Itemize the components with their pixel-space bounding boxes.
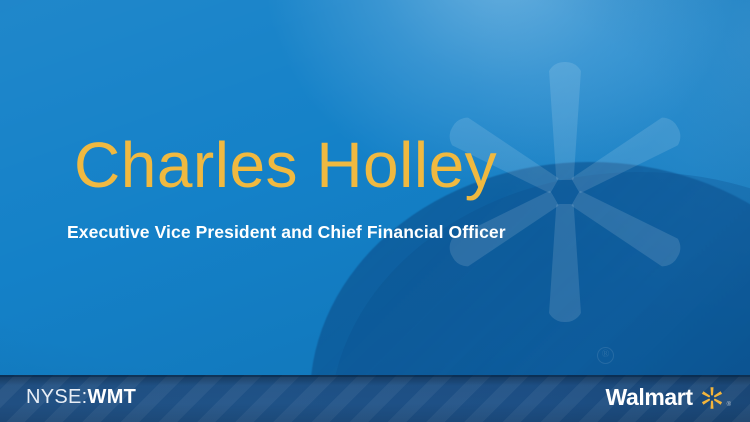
ticker-exchange-label: NYSE: [26, 386, 88, 408]
ticker-symbol-label: WMT [88, 386, 137, 408]
page-subtitle: Executive Vice President and Chief Finan… [67, 222, 506, 243]
footer-bar: NYSE:WMT Walmart [0, 375, 750, 422]
presentation-slide: ® Charles Holley Executive Vice Presiden… [0, 0, 750, 422]
footer-top-divider [0, 375, 750, 377]
stock-ticker: NYSE:WMT [26, 386, 136, 409]
page-title: Charles Holley [74, 133, 497, 197]
watermark-registered-mark: ® [597, 347, 614, 364]
brand-registered-mark: ® [727, 402, 731, 408]
walmart-spark-icon [700, 386, 724, 410]
brand-wordmark: Walmart [605, 384, 692, 411]
walmart-logo: Walmart [605, 384, 731, 411]
